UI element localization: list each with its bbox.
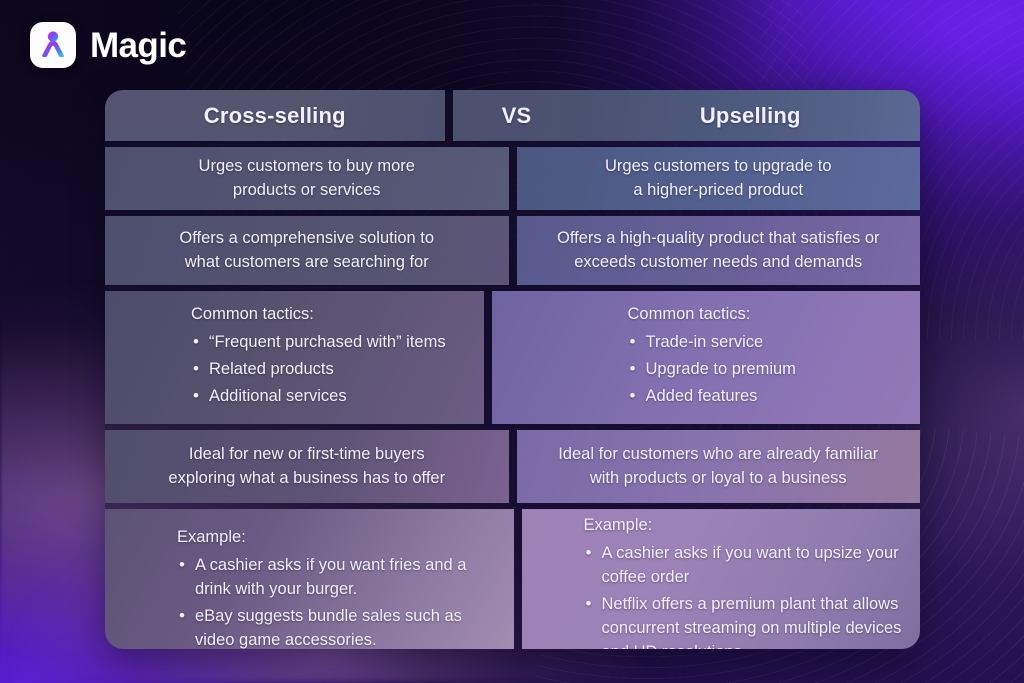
header-label-left: Cross-selling (204, 100, 346, 132)
table-row: Common tactics: “Frequent purchased with… (105, 291, 920, 424)
cell-title: Example: (177, 526, 246, 550)
list-item: Trade-in service (630, 331, 796, 355)
list-item: A cashier asks if you want to upsize you… (586, 542, 903, 590)
column-divider (509, 216, 517, 285)
magic-m-logo-icon (30, 22, 76, 68)
cell-line: products or services (233, 179, 381, 203)
list-item: eBay suggests bundle sales such as video… (179, 605, 496, 649)
list-item: Upgrade to premium (630, 358, 796, 382)
cell-right-tactics: Common tactics: Trade-in service Upgrade… (492, 291, 921, 424)
header-cell-cross-selling: Cross-selling (105, 90, 445, 141)
cell-right-audience: Ideal for customers who are already fami… (517, 430, 921, 503)
table-row: Example: A cashier asks if you want frie… (105, 509, 920, 649)
cell-line: Offers a comprehensive solution to (179, 227, 434, 251)
cell-line: exploring what a business has to offer (168, 467, 445, 491)
column-divider (445, 90, 453, 141)
brand-lockup: Magic (30, 22, 186, 68)
cell-left-example: Example: A cashier asks if you want frie… (105, 509, 514, 649)
table-row: Ideal for new or first-time buyers explo… (105, 430, 920, 503)
cell-title: Example: (584, 514, 653, 538)
cell-right-offer: Offers a high-quality product that satis… (517, 216, 921, 285)
bullet-list: A cashier asks if you want fries and a d… (163, 551, 496, 649)
cell-line: Offers a high-quality product that satis… (557, 227, 880, 251)
cell-line: Ideal for new or first-time buyers (189, 443, 425, 467)
list-item: Related products (193, 358, 446, 382)
cell-left-offer: Offers a comprehensive solution to what … (105, 216, 509, 285)
list-item: Additional services (193, 385, 446, 409)
cell-line: what customers are searching for (185, 251, 429, 275)
column-divider (484, 291, 492, 424)
table-row: Urges customers to buy more products or … (105, 147, 920, 210)
table-row: Offers a comprehensive solution to what … (105, 216, 920, 285)
header-label-vs: VS (502, 100, 532, 132)
column-divider (509, 430, 517, 503)
poster-canvas: Magic Cross-selling VS Upselling Urges c… (0, 0, 1024, 683)
list-item: Added features (630, 385, 796, 409)
list-item: “Frequent purchased with” items (193, 331, 446, 355)
list-item: A cashier asks if you want fries and a d… (179, 554, 496, 602)
cell-line: with products or loyal to a business (590, 467, 847, 491)
cell-title: Common tactics: (191, 303, 314, 327)
cell-line: exceeds customer needs and demands (574, 251, 862, 275)
column-divider (509, 147, 517, 210)
table-header-row: Cross-selling VS Upselling (105, 90, 920, 141)
cell-line: a higher-priced product (633, 179, 803, 203)
cell-line: Urges customers to upgrade to (605, 155, 832, 179)
cell-right-example: Example: A cashier asks if you want to u… (522, 509, 921, 649)
cell-line: Ideal for customers who are already fami… (558, 443, 878, 467)
column-divider (514, 509, 522, 649)
header-cell-upselling: Upselling (581, 90, 921, 141)
comparison-table: Cross-selling VS Upselling Urges custome… (105, 90, 920, 649)
brand-name: Magic (90, 28, 186, 63)
bullet-list: “Frequent purchased with” items Related … (177, 328, 446, 412)
list-item: Netflix offers a premium plant that allo… (586, 593, 903, 649)
header-label-right: Upselling (700, 100, 801, 132)
cell-left-audience: Ideal for new or first-time buyers explo… (105, 430, 509, 503)
cell-right-definition: Urges customers to upgrade to a higher-p… (517, 147, 921, 210)
bullet-list: Trade-in service Upgrade to premium Adde… (614, 328, 796, 412)
cell-line: Urges customers to buy more (199, 155, 415, 179)
cell-left-definition: Urges customers to buy more products or … (105, 147, 509, 210)
cell-left-tactics: Common tactics: “Frequent purchased with… (105, 291, 484, 424)
cell-title: Common tactics: (628, 303, 751, 327)
header-cell-vs: VS (453, 90, 581, 141)
bullet-list: A cashier asks if you want to upsize you… (570, 539, 903, 649)
